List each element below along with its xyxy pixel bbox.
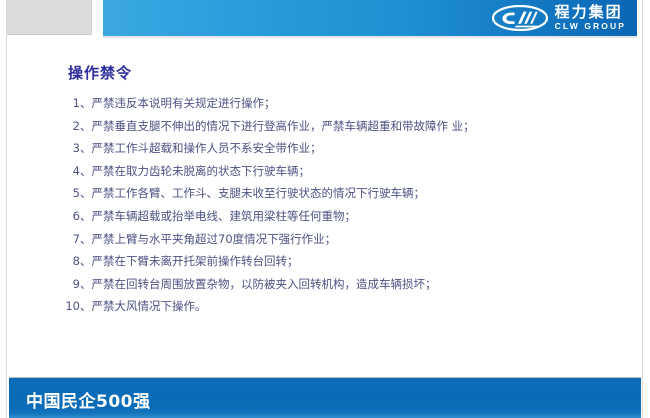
rule-number: 10 <box>60 295 80 318</box>
rule-number: 9 <box>60 273 80 296</box>
list-item: 1、严禁违反本说明有关规定进行操作； <box>60 92 590 115</box>
list-item: 2、严禁垂直支腿不伸出的情况下进行登高作业，严禁车辆超重和带故障作 业； <box>60 115 590 138</box>
list-item: 4、严禁在取力齿轮未脱离的状态下行驶车辆； <box>60 160 590 183</box>
slide-content: 操作禁令 1、严禁违反本说明有关规定进行操作； 2、严禁垂直支腿不伸出的情况下进… <box>0 44 650 362</box>
rule-text: 严禁垂直支腿不伸出的情况下进行登高作业，严禁车辆超重和带故障作 业； <box>92 115 475 138</box>
list-item: 6、严禁车辆超载或抬举电线、建筑用梁柱等任何重物； <box>60 205 590 228</box>
list-item: 3、严禁工作斗超载和操作人员不系安全带作业； <box>60 137 590 160</box>
list-item: 7、严禁上臂与水平夹角超过70度情况下强行作业； <box>60 228 590 251</box>
logo-company-name-cn: 程力集团 <box>555 5 626 20</box>
list-item: 9、严禁在回转台周围放置杂物，以防被夹入回转机构，造成车辆损坏； <box>60 273 590 296</box>
rule-number: 3 <box>60 137 80 160</box>
slide-page: 程力集团 CLW GROUP 操作禁令 1、严禁违反本说明有关规定进行操作； 2… <box>0 0 650 418</box>
rule-separator: 、 <box>80 250 92 273</box>
clw-circle-emblem-icon <box>492 5 548 31</box>
rule-text: 严禁在取力齿轮未脱离的状态下行驶车辆； <box>92 160 311 183</box>
list-item: 8、严禁在下臂未离开托架前操作转台回转； <box>60 250 590 273</box>
rule-separator: 、 <box>80 205 92 228</box>
rule-separator: 、 <box>80 160 92 183</box>
rule-text: 严禁大风情况下操作。 <box>92 295 207 318</box>
header-gray-block <box>7 0 92 35</box>
company-logo: 程力集团 CLW GROUP <box>492 4 626 32</box>
rule-number: 2 <box>60 115 80 138</box>
rule-text: 严禁违反本说明有关规定进行操作； <box>92 92 276 115</box>
rule-separator: 、 <box>80 115 92 138</box>
logo-company-name-en: CLW GROUP <box>555 22 626 31</box>
rule-number: 8 <box>60 250 80 273</box>
logo-text-block: 程力集团 CLW GROUP <box>555 5 626 31</box>
rule-number: 1 <box>60 92 80 115</box>
rule-separator: 、 <box>80 182 92 205</box>
footer-slogan: 中国民企500强 <box>26 387 151 412</box>
page-footer: 中国民企500强 <box>9 378 641 418</box>
rule-number: 5 <box>60 182 80 205</box>
prohibition-rules-list: 1、严禁违反本说明有关规定进行操作； 2、严禁垂直支腿不伸出的情况下进行登高作业… <box>60 92 590 318</box>
header-blue-bar: 程力集团 CLW GROUP <box>103 0 637 36</box>
rule-number: 6 <box>60 205 80 228</box>
rule-text: 严禁工作斗超载和操作人员不系安全带作业； <box>92 137 322 160</box>
rule-separator: 、 <box>80 273 92 296</box>
page-title: 操作禁令 <box>68 62 132 83</box>
rule-separator: 、 <box>80 92 92 115</box>
rule-separator: 、 <box>80 137 92 160</box>
rule-number: 4 <box>60 160 80 183</box>
rule-text: 严禁在下臂未离开托架前操作转台回转； <box>92 250 299 273</box>
list-item: 10、严禁大风情况下操作。 <box>60 295 590 318</box>
rule-text: 严禁工作各臂、工作斗、支腿未收至行驶状态的情况下行驶车辆； <box>92 182 426 205</box>
header-bar-shadow <box>103 36 637 38</box>
rule-text: 严禁在回转台周围放置杂物，以防被夹入回转机构，造成车辆损坏； <box>92 273 437 296</box>
list-item: 5、严禁工作各臂、工作斗、支腿未收至行驶状态的情况下行驶车辆； <box>60 182 590 205</box>
rule-separator: 、 <box>80 295 92 318</box>
rule-separator: 、 <box>80 228 92 251</box>
rule-text: 严禁上臂与水平夹角超过70度情况下强行作业； <box>92 228 337 251</box>
rule-number: 7 <box>60 228 80 251</box>
page-header: 程力集团 CLW GROUP <box>0 0 650 40</box>
rule-text: 严禁车辆超载或抬举电线、建筑用梁柱等任何重物； <box>92 205 357 228</box>
